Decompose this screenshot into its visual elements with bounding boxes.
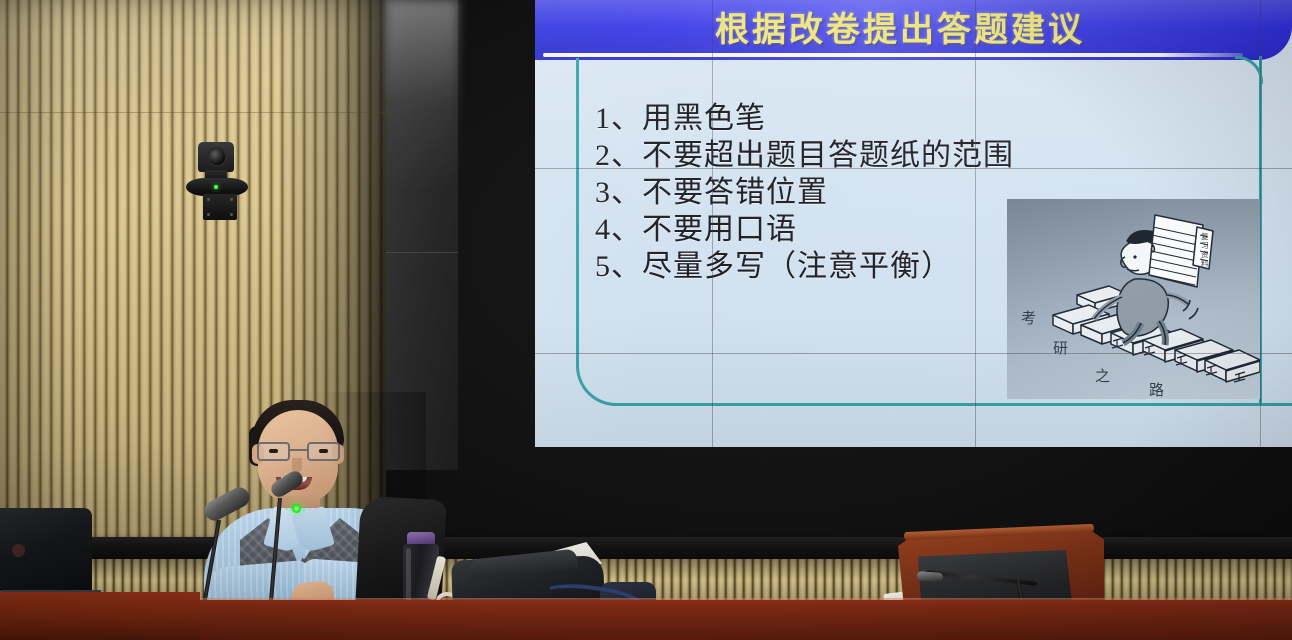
title-underline [543,53,1243,57]
bullet-number: 4、 [595,213,642,246]
camera-led-indicator [214,185,218,189]
microphone-led-indicator [292,504,301,513]
column-seam [386,252,458,253]
panel-seam [0,112,386,113]
cartoon-paper-label: 料 [1201,258,1209,268]
videowall-seam-vertical [975,0,976,447]
presentation-screen[interactable]: 根据改卷提出答题建议 1、用黑色笔 2、不要超出题目答题纸的范围 3、不要答错位… [535,0,1292,447]
cartoon-paper-label: 资 [1201,249,1209,259]
cartoon-caption-char: 考 [1021,309,1036,327]
camera-wall-bracket [203,194,237,220]
bracket-screw [207,213,210,216]
bottle-highlight [406,548,411,604]
cartoon-caption-char: 之 [1095,367,1110,385]
list-item: 1、用黑色笔 [595,100,1155,137]
presenter-eye [319,449,328,453]
bullet-number: 1、 [595,102,642,135]
cartoon-svg: 考 研 之 路 复 习 资 料 [1007,199,1260,399]
bullet-text: 尽量多写（注意平衡） [642,249,952,284]
bracket-screw [230,213,233,216]
bullet-text: 用黑色笔 [642,101,766,136]
videowall-seam-horizontal [535,168,1292,169]
slide-title: 根据改卷提出答题建议 [535,0,1265,52]
videowall-seam-vertical [1260,0,1261,447]
microphone[interactable] [276,478,284,608]
presenter-eye [269,449,278,453]
ptz-camera-icon [186,142,248,220]
cartoon-paper-label: 复 [1201,231,1209,241]
microphone[interactable] [215,498,223,610]
videowall-seam-vertical [712,0,713,447]
cartoon-paper-label: 习 [1201,241,1209,250]
lecture-hall-scene: 根据改卷提出答题建议 1、用黑色笔 2、不要超出题目答题纸的范围 3、不要答错位… [0,0,1292,640]
kaoyan-stairs-cartoon-image: 考 研 之 路 复 习 资 料 [1007,199,1260,399]
laptop-logo-icon [12,544,25,557]
glasses-bridge [290,449,307,451]
bullet-number: 5、 [595,250,642,283]
column-highlight [386,0,458,190]
bullet-text: 不要答错位置 [642,175,828,210]
gooseneck-capsule [917,571,944,582]
bullet-text: 不要用口语 [642,212,797,247]
bracket-screw [207,198,210,201]
camera-lens-icon [207,147,227,167]
bracket-screw [230,198,233,201]
videowall-seam-horizontal [535,353,1292,354]
conference-table-left [0,592,200,640]
cartoon-caption-char: 路 [1149,381,1164,399]
bullet-number: 3、 [595,176,642,209]
cartoon-caption-char: 研 [1053,339,1068,357]
